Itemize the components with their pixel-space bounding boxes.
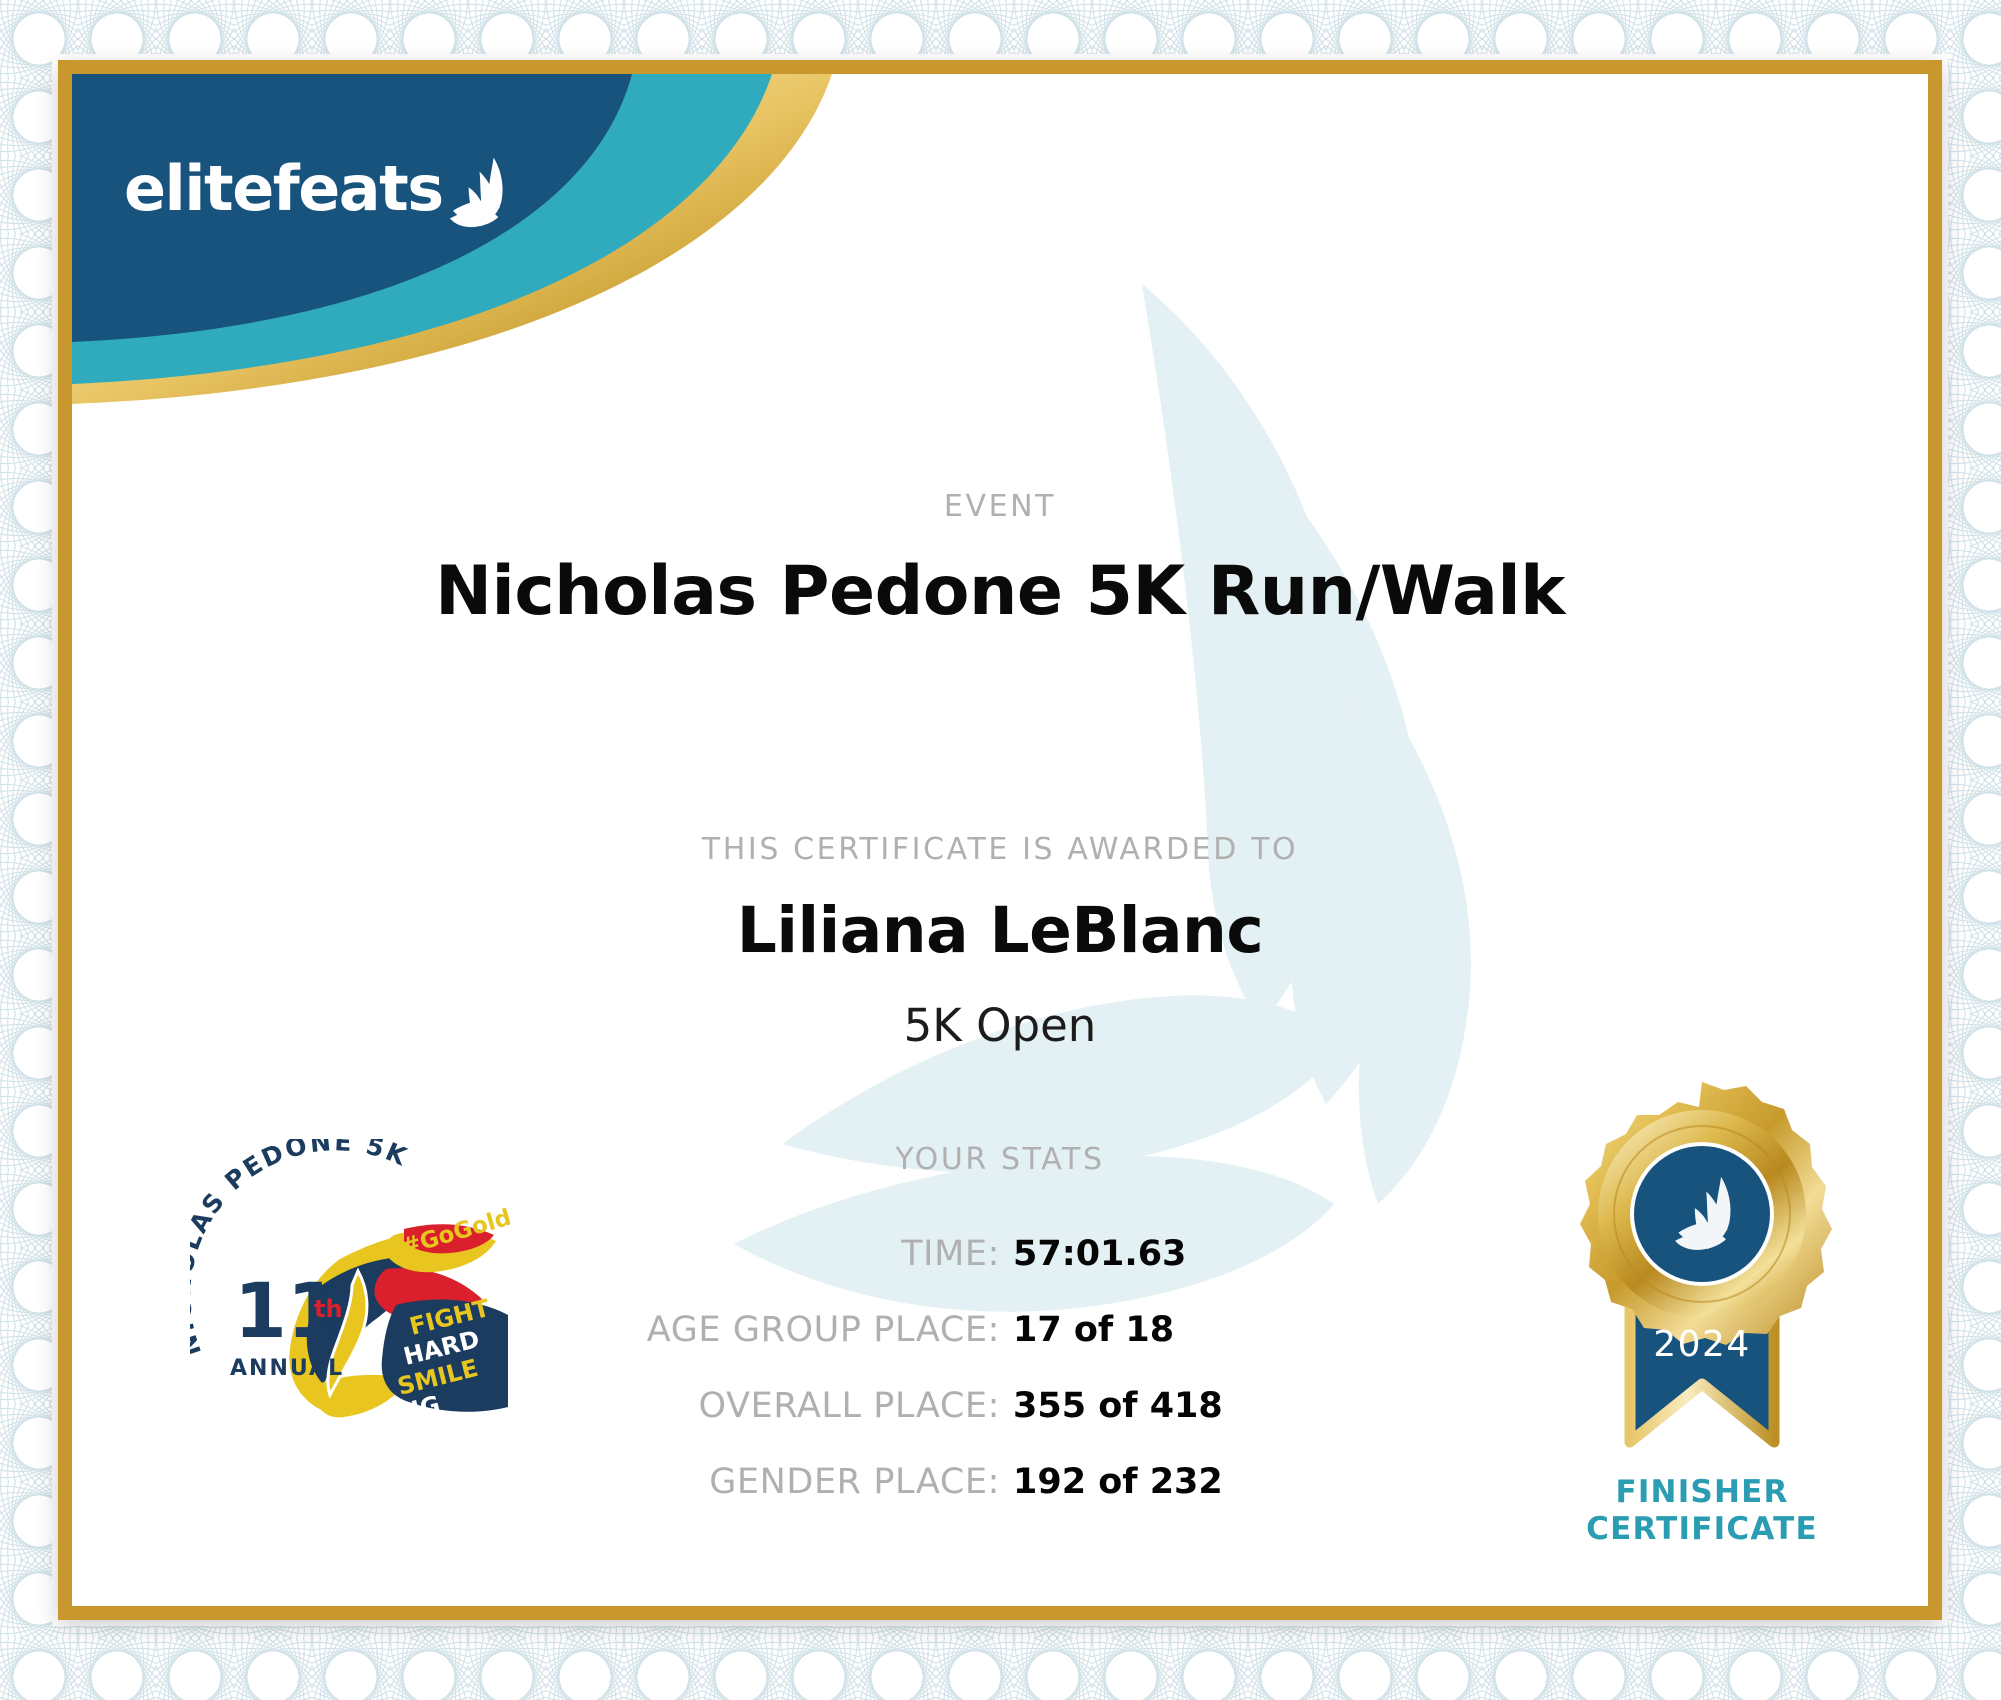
event-title: Nicholas Pedone 5K Run/Walk: [72, 552, 1928, 631]
stat-value-age-group-place: 17 of 18: [1000, 1310, 1620, 1350]
race-event-logo: NICHOLAS PEDONE 5K: [190, 1139, 510, 1439]
stat-value-time: 57:01.63: [1000, 1234, 1620, 1274]
certificate-inner: elitefeats EVENT Nicholas Pedone 5K Run/…: [72, 74, 1928, 1606]
winged-foot-icon: [439, 153, 517, 231]
finisher-caption-line2: CERTIFICATE: [1522, 1511, 1882, 1548]
division-label: 5K Open: [72, 999, 1928, 1052]
finisher-medal-badge: 2024: [1552, 1064, 1852, 1484]
event-label: EVENT: [72, 489, 1928, 524]
elitefeats-logo: elitefeats: [124, 146, 544, 232]
certificate-page: elitefeats EVENT Nicholas Pedone 5K Run/…: [0, 0, 2001, 1700]
header-decoration: [72, 74, 1202, 404]
awarded-to-label: THIS CERTIFICATE IS AWARDED TO: [72, 832, 1928, 867]
finisher-caption-line1: FINISHER: [1522, 1474, 1882, 1511]
recipient-name: Liliana LeBlanc: [72, 894, 1928, 967]
finisher-certificate-caption: FINISHER CERTIFICATE: [1522, 1474, 1882, 1547]
race-logo-edition-word: ANNUAL: [230, 1356, 344, 1381]
stat-label-gender-place: GENDER PLACE:: [380, 1462, 1000, 1502]
medal-year: 2024: [1653, 1324, 1751, 1365]
certificate-card: elitefeats EVENT Nicholas Pedone 5K Run/…: [58, 60, 1942, 1620]
stat-value-overall-place: 355 of 418: [1000, 1386, 1620, 1426]
logo-wordmark: elitefeats: [124, 158, 443, 220]
race-logo-edition-suffix: th: [314, 1295, 343, 1323]
